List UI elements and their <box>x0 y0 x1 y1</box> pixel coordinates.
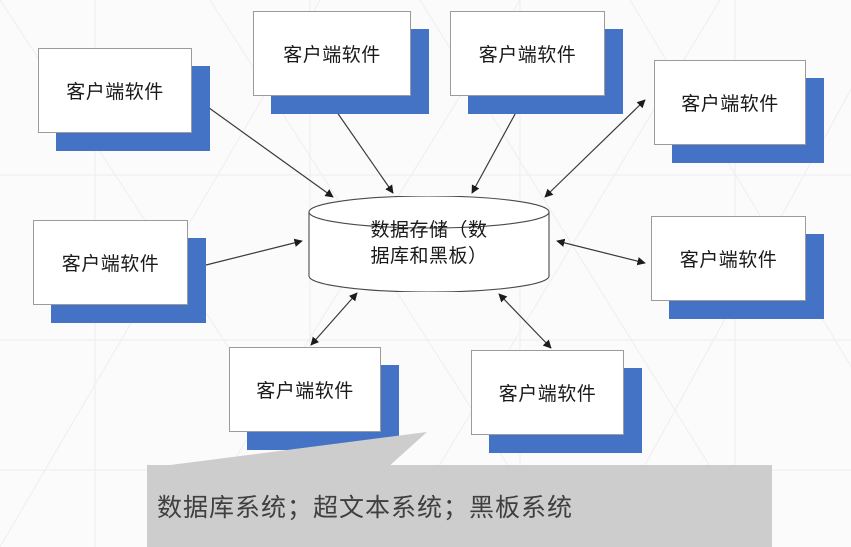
connector-bottom-right <box>499 294 551 348</box>
client-node-bottom-right[interactable]: 客户端软件 <box>471 350 624 435</box>
connector-top-right <box>545 100 645 197</box>
client-card[interactable]: 客户端软件 <box>33 220 188 305</box>
connector-left <box>194 241 302 268</box>
client-card[interactable]: 客户端软件 <box>471 350 624 435</box>
datastore-label-line1: 数据存储（数 <box>370 218 487 244</box>
client-card[interactable]: 客户端软件 <box>38 48 192 133</box>
caption-text: 数据库系统；超文本系统；黑板系统 <box>147 488 573 524</box>
client-node-bottom-left[interactable]: 客户端软件 <box>229 347 381 432</box>
client-card[interactable]: 客户端软件 <box>450 11 605 96</box>
client-label: 客户端软件 <box>681 89 779 116</box>
connector-top-left <box>198 100 333 197</box>
client-label: 客户端软件 <box>499 379 597 406</box>
datastore-label-line2: 据库和黑板） <box>370 244 487 270</box>
connector-right <box>557 241 645 263</box>
client-node-right[interactable]: 客户端软件 <box>651 216 806 301</box>
datastore-label: 数据存储（数 据库和黑板） <box>308 196 550 292</box>
client-card[interactable]: 客户端软件 <box>253 11 411 96</box>
connector-bottom-left <box>311 293 357 345</box>
client-card[interactable]: 客户端软件 <box>651 216 806 301</box>
diagram-canvas: 数据存储（数 据库和黑板） 客户端软件 客户端软件 客户端软件 客户端软件 客户… <box>0 0 851 547</box>
caption-callout: 数据库系统；超文本系统；黑板系统 <box>147 465 772 547</box>
client-node-left[interactable]: 客户端软件 <box>33 220 188 305</box>
client-card[interactable]: 客户端软件 <box>229 347 381 432</box>
connector-top-center-1 <box>332 105 393 193</box>
client-label: 客户端软件 <box>283 40 381 67</box>
client-label: 客户端软件 <box>66 77 164 104</box>
client-label: 客户端软件 <box>256 376 354 403</box>
client-node-top-right[interactable]: 客户端软件 <box>654 60 806 145</box>
callout-tail <box>147 432 437 468</box>
client-node-top-center-2[interactable]: 客户端软件 <box>450 11 605 96</box>
client-label: 客户端软件 <box>680 245 778 272</box>
client-node-top-left[interactable]: 客户端软件 <box>38 48 192 133</box>
connector-top-center-2 <box>472 105 520 193</box>
client-label: 客户端软件 <box>479 40 577 67</box>
client-label: 客户端软件 <box>62 249 160 276</box>
datastore-cylinder[interactable]: 数据存储（数 据库和黑板） <box>308 196 550 292</box>
client-node-top-center-1[interactable]: 客户端软件 <box>253 11 411 96</box>
client-card[interactable]: 客户端软件 <box>654 60 806 145</box>
